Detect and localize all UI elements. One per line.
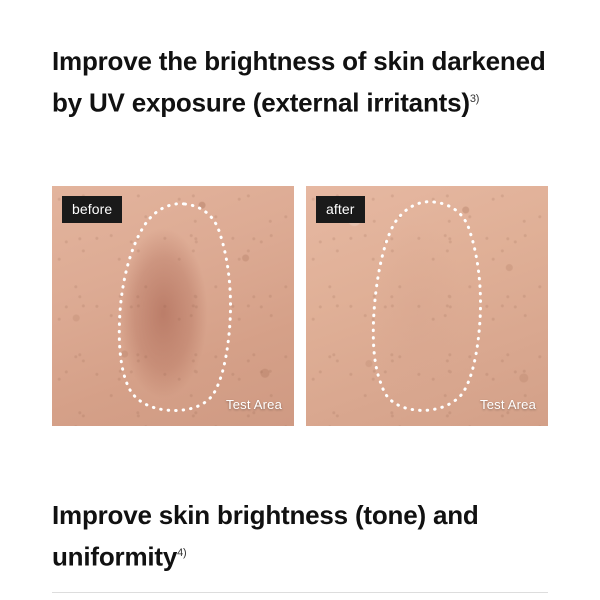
footnote-marker-4: 4)	[177, 547, 186, 559]
after-test-area-caption: Test Area	[480, 397, 536, 412]
document-page: Improve the brightness of skin darkened …	[0, 0, 600, 600]
footnote-marker-3: 3)	[470, 93, 479, 105]
after-panel: after Test Area	[306, 186, 548, 426]
before-panel: before Test Area	[52, 186, 294, 426]
before-after-comparison: before Test Area after Test Area	[52, 186, 548, 426]
page-title-bottom-text: Improve skin brightness (tone) and unifo…	[52, 500, 479, 572]
before-label-badge: before	[62, 196, 122, 223]
page-title-top: Improve the brightness of skin darkened …	[52, 42, 552, 122]
page-title-top-text: Improve the brightness of skin darkened …	[52, 46, 546, 118]
section-divider	[52, 592, 548, 593]
page-title-bottom: Improve skin brightness (tone) and unifo…	[52, 496, 572, 576]
before-test-area-caption: Test Area	[226, 397, 282, 412]
after-label-badge: after	[316, 196, 365, 223]
